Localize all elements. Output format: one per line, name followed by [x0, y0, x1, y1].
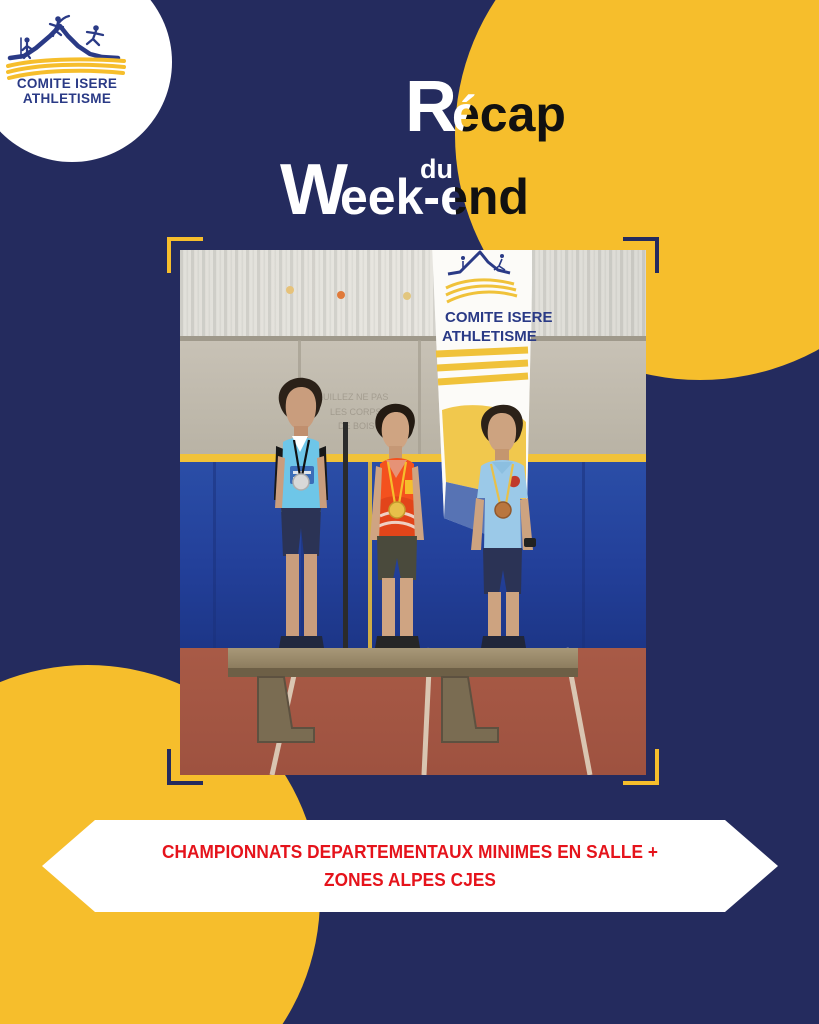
- banner-line-1: CHAMPIONNATS DEPARTEMENTAUX MINIMES EN S…: [162, 838, 658, 866]
- photo-corner-bracket-bottom-left: [167, 749, 203, 785]
- banner-line-2: ZONES ALPES CJES: [324, 866, 496, 894]
- photo-canvas: VEUILLEZ NE PAS LES CORPS DE BOIS: [180, 250, 646, 775]
- poster-canvas: COMITE ISERE ATHLETISME: [0, 0, 819, 1024]
- svg-text:ATHLETISME: ATHLETISME: [442, 328, 537, 345]
- podium-photo: VEUILLEZ NE PAS LES CORPS DE BOIS: [180, 250, 646, 775]
- event-title-banner: CHAMPIONNATS DEPARTEMENTAUX MINIMES EN S…: [42, 820, 778, 912]
- logo-text-line1: COMITE ISERE: [6, 76, 128, 91]
- banner-text: CHAMPIONNATS DEPARTEMENTAUX MINIMES EN S…: [68, 820, 752, 912]
- photo-corner-bracket-top-right: [623, 237, 659, 273]
- headline-line2-initial: W: [280, 150, 348, 230]
- photo-corner-bracket-top-left: [167, 237, 203, 273]
- svg-text:VEUILLEZ NE PAS: VEUILLEZ NE PAS: [311, 392, 388, 402]
- mountain-runner-icon: [6, 14, 128, 80]
- logo-text: COMITE ISERE ATHLETISME: [6, 76, 128, 106]
- photo-corner-bracket-bottom-right: [623, 749, 659, 785]
- headline-line1-initial: R: [405, 67, 457, 147]
- photo-illustration: VEUILLEZ NE PAS LES CORPS DE BOIS: [180, 250, 646, 775]
- svg-text:LES CORPS: LES CORPS: [330, 407, 382, 417]
- svg-text:COMITE ISERE: COMITE ISERE: [445, 309, 553, 326]
- logo-inner: COMITE ISERE ATHLETISME: [6, 14, 128, 126]
- logo-text-line2: ATHLETISME: [6, 91, 128, 106]
